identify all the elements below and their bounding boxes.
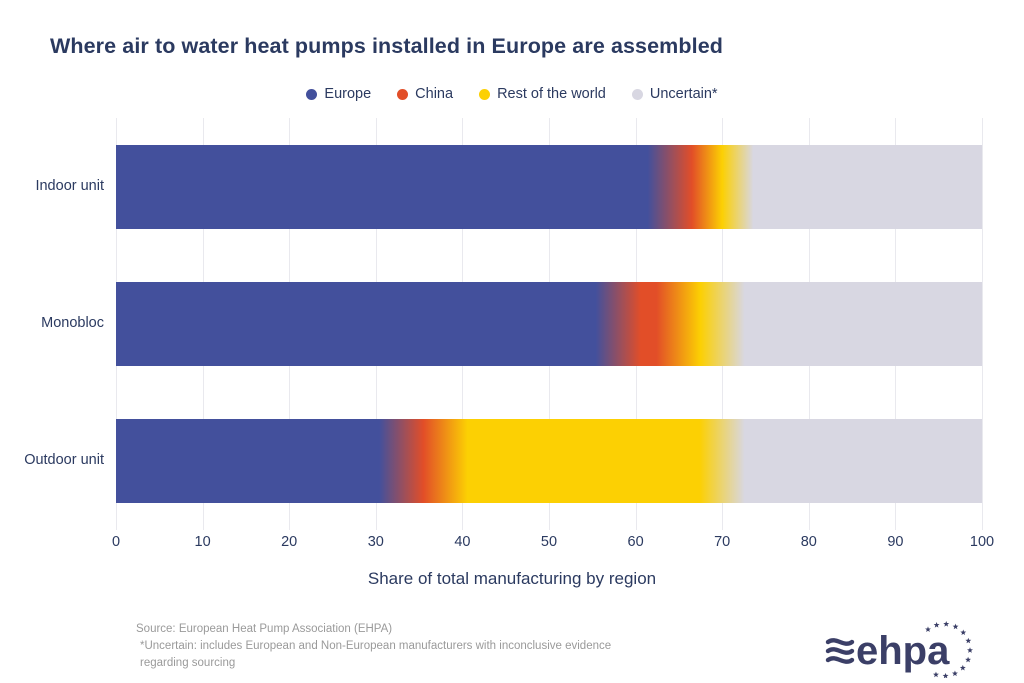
eu-star-icon (967, 647, 973, 653)
ehpa-logo: ehpa (822, 620, 982, 678)
x-axis-tick-label: 80 (801, 534, 817, 550)
legend-swatch-icon (397, 89, 408, 100)
legend-item-uncertain[interactable]: Uncertain* (632, 86, 718, 102)
stacked-bar-monobloc[interactable] (116, 282, 982, 366)
bar-row (116, 419, 982, 503)
x-axis: 0102030405060708090100 (116, 534, 982, 560)
legend-item-rest-of-the-world[interactable]: Rest of the world (479, 86, 606, 102)
eu-star-icon (960, 629, 966, 635)
legend-item-europe[interactable]: Europe (306, 86, 371, 102)
chart-footnote: Source: European Heat Pump Association (… (136, 621, 611, 672)
ehpa-wordmark: ehpa (856, 629, 950, 673)
x-axis-tick-label: 40 (454, 534, 470, 550)
eu-star-icon (960, 665, 966, 671)
chart-legend: EuropeChinaRest of the worldUncertain* (0, 86, 1024, 102)
gridline (982, 118, 983, 530)
eu-star-icon (952, 670, 958, 676)
stacked-bar-indoor-unit[interactable] (116, 145, 982, 229)
legend-swatch-icon (479, 89, 490, 100)
eu-star-icon (934, 622, 940, 628)
eu-star-icon (943, 621, 949, 627)
legend-item-china[interactable]: China (397, 86, 453, 102)
eu-star-icon (943, 673, 949, 678)
y-axis-tick-label: Outdoor unit (24, 452, 104, 468)
ehpa-wave-icon (828, 640, 852, 661)
page-title: Where air to water heat pumps installed … (50, 34, 723, 59)
x-axis-tick-label: 60 (628, 534, 644, 550)
bar-row (116, 282, 982, 366)
footnote-uncertain-line2: regarding sourcing (136, 655, 611, 672)
legend-item-label: Europe (324, 86, 371, 102)
plot-area (116, 118, 982, 530)
footnote-source: Source: European Heat Pump Association (… (136, 621, 611, 638)
footnote-uncertain-line1: *Uncertain: includes European and Non-Eu… (136, 638, 611, 655)
legend-item-label: Rest of the world (497, 86, 606, 102)
x-axis-tick-label: 100 (970, 534, 994, 550)
legend-swatch-icon (632, 89, 643, 100)
x-axis-tick-label: 70 (714, 534, 730, 550)
x-axis-tick-label: 0 (112, 534, 120, 550)
stacked-bar-outdoor-unit[interactable] (116, 419, 982, 503)
x-axis-tick-label: 90 (887, 534, 903, 550)
legend-item-label: China (415, 86, 453, 102)
legend-swatch-icon (306, 89, 317, 100)
y-axis-tick-label: Monobloc (41, 315, 104, 331)
legend-item-label: Uncertain* (650, 86, 718, 102)
x-axis-title: Share of total manufacturing by region (0, 569, 1024, 589)
y-axis-tick-label: Indoor unit (35, 178, 104, 194)
x-axis-tick-label: 20 (281, 534, 297, 550)
x-axis-tick-label: 10 (195, 534, 211, 550)
eu-star-icon (965, 638, 971, 644)
x-axis-tick-label: 30 (368, 534, 384, 550)
x-axis-tick-label: 50 (541, 534, 557, 550)
eu-star-icon (965, 657, 971, 663)
bar-row (116, 145, 982, 229)
eu-star-icon (953, 624, 959, 630)
y-axis: Indoor unitMonoblocOutdoor unit (0, 118, 104, 530)
